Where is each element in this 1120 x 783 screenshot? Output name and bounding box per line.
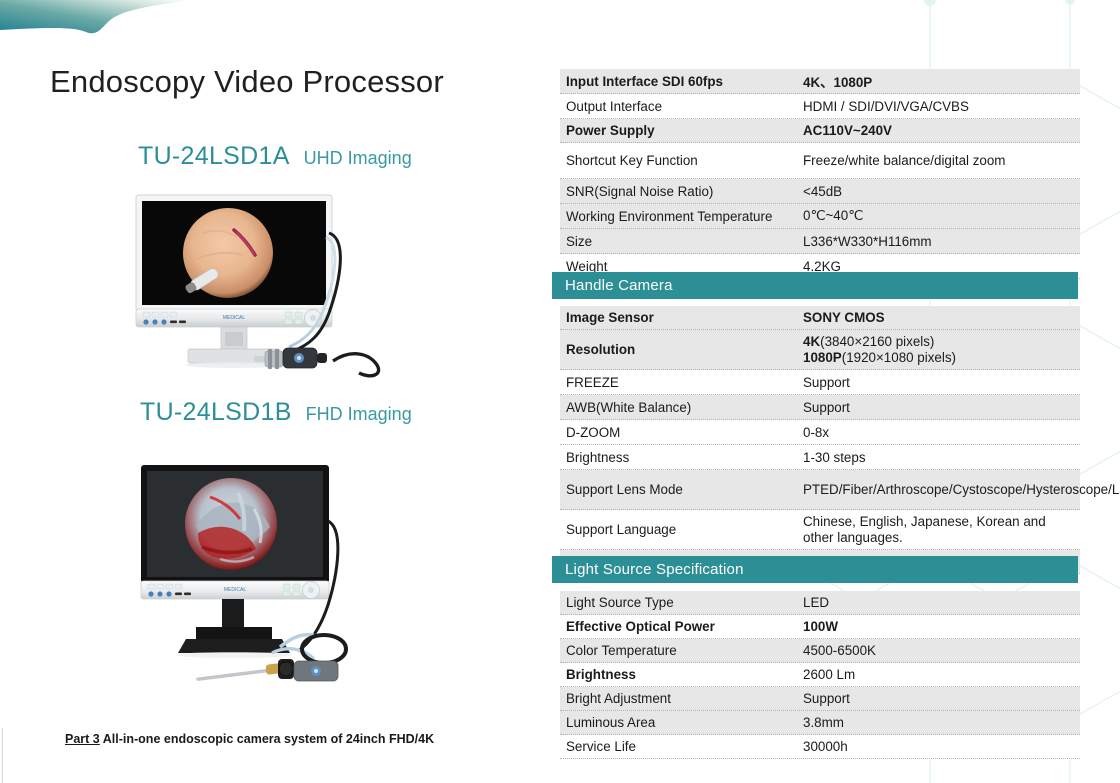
table-row: Color Temperature 4500-6500K [560,639,1080,663]
table-row: SNR(Signal Noise Ratio) <45dB [560,179,1080,204]
svg-text:MEDICAL: MEDICAL [223,315,245,321]
spec-value: Support [803,691,1080,706]
spec-value: 4500-6500K [803,643,1080,658]
table-row: AWB(White Balance) Support [560,395,1080,420]
product-code-a: TU-24LSD1A [138,142,290,171]
spec-value: AC110V~240V [803,123,1080,138]
spec-key: D-ZOOM [560,425,803,440]
spec-key: SNR(Signal Noise Ratio) [560,184,803,199]
table-row: Effective Optical Power 100W [560,615,1080,639]
table-row: Support Language Chinese, English, Japan… [560,510,1080,550]
spec-key: Bright Adjustment [560,691,803,706]
spec-key: Support Lens Mode [560,482,803,498]
spec-key: Image Sensor [560,310,803,325]
table-row: Brightness 1-30 steps [560,445,1080,470]
svg-text:MEDICAL: MEDICAL [224,587,246,593]
spec-value: SONY CMOS [803,310,1080,325]
left-column: Endoscopy Video Processor TU-24LSD1A UHD… [0,0,545,783]
spec-key: Input Interface SDI 60fps [560,74,803,89]
section-header-light-source: Light Source Specification [552,556,1078,583]
spec-value: 0-8x [803,425,1080,440]
table-row: Working Environment Temperature 0℃~40℃ [560,204,1080,229]
resolution-1080p-detail: (1920×1080 pixels) [842,350,956,365]
section-header-handle-camera: Handle Camera [552,272,1078,299]
spec-key: Resolution [560,342,803,358]
table-row: Input Interface SDI 60fps 4K、1080P [560,69,1080,94]
spec-value: HDMI / SDI/DVI/VGA/CVBS [803,99,1080,114]
resolution-4k-label: 4K [803,334,820,349]
page-title: Endoscopy Video Processor [50,64,444,100]
table-row: Brightness 2600 Lm [560,663,1080,687]
product-label-b: TU-24LSD1B FHD Imaging [140,398,412,427]
spec-key: Output Interface [560,99,803,114]
spec-key: Service Life [560,739,803,754]
slide-caption: Part 3 All-in-one endoscopic camera syst… [65,732,434,746]
table-row: Resolution 4K(3840×2160 pixels) 1080P(19… [560,330,1080,370]
processor-spec-table: Input Interface SDI 60fps 4K、1080P Outpu… [560,69,1080,279]
spec-value: 1-30 steps [803,450,1080,465]
product-tag-a: UHD Imaging [304,148,412,169]
spec-value: 3.8mm [803,715,1080,730]
caption-body-text: All-in-one endoscopic camera system of 2… [103,732,434,746]
resolution-4k-detail: (3840×2160 pixels) [820,334,934,349]
product-tag-b: FHD Imaging [306,404,412,425]
table-row: D-ZOOM 0-8x [560,420,1080,445]
spec-value: LED [803,595,1080,610]
table-row: Light Source Type LED [560,591,1080,615]
spec-key: Support Language [560,522,803,538]
spec-value: L336*W330*H116mm [803,234,1080,249]
product-label-a: TU-24LSD1A UHD Imaging [138,142,412,171]
product-photo-uhd: MEDICAL [133,193,405,385]
spec-value: Support [803,375,1080,390]
table-row: FREEZE Support [560,370,1080,395]
spec-value: Freeze/white balance/digital zoom [803,153,1080,168]
handle-camera-spec-table: Image Sensor SONY CMOS Resolution 4K(384… [560,306,1080,574]
table-row: Bright Adjustment Support [560,687,1080,711]
table-row: Power Supply AC110V~240V [560,119,1080,143]
caption-part-label: Part 3 [65,732,100,746]
spec-key: Working Environment Temperature [560,209,803,224]
spec-value: Chinese, English, Japanese, Korean and o… [803,514,1080,546]
spec-value: 30000h [803,739,1080,754]
spec-key: Color Temperature [560,643,803,658]
spec-value: 2600 Lm [803,667,1080,682]
spec-value: 4K、1080P [803,71,1080,91]
table-row: Service Life 30000h [560,735,1080,759]
spec-value: PTED/Fiber/Arthroscope/Cystoscope/Hyster… [803,482,1120,498]
spec-key: Brightness [560,450,803,465]
specifications-area: Input Interface SDI 60fps 4K、1080P Outpu… [552,0,1082,783]
table-row: Output Interface HDMI / SDI/DVI/VGA/CVBS [560,94,1080,119]
table-row: Shortcut Key Function Freeze/white balan… [560,143,1080,179]
spec-key: Effective Optical Power [560,619,803,634]
spec-key: Size [560,234,803,249]
spec-key: AWB(White Balance) [560,400,803,415]
table-row: Image Sensor SONY CMOS [560,306,1080,330]
spec-value-resolution: 4K(3840×2160 pixels) 1080P(1920×1080 pix… [803,334,1080,366]
resolution-1080p-label: 1080P [803,350,842,365]
spec-value: 0℃~40℃ [803,208,1080,224]
spec-key: Luminous Area [560,715,803,730]
spec-key: Brightness [560,667,803,682]
table-row: Support Lens Mode PTED/Fiber/Arthroscope… [560,470,1080,510]
spec-key: Power Supply [560,123,803,138]
spec-value: Support [803,400,1080,415]
spec-key: FREEZE [560,375,803,390]
table-row: Luminous Area 3.8mm [560,711,1080,735]
product-photo-fhd: MEDICAL [138,463,410,695]
spec-key: Light Source Type [560,595,803,610]
table-row: Size L336*W330*H116mm [560,229,1080,254]
slide-page: Endoscopy Video Processor TU-24LSD1A UHD… [0,0,1120,783]
spec-value: <45dB [803,184,1080,199]
product-code-b: TU-24LSD1B [140,398,292,427]
light-source-spec-table: Light Source Type LED Effective Optical … [560,591,1080,759]
spec-value: 100W [803,619,1080,634]
spec-key: Shortcut Key Function [560,153,803,168]
